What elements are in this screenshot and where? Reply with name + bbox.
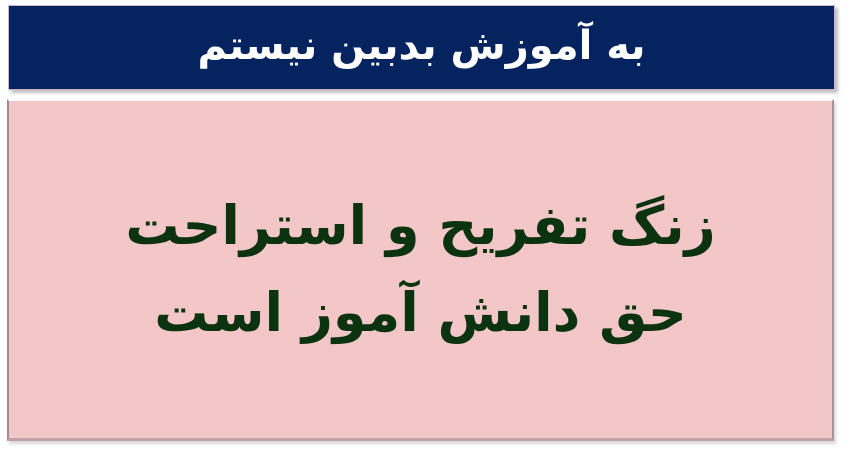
slide-title: به آموزش بدبین نیستم <box>197 25 645 71</box>
title-banner: به آموزش بدبین نیستم <box>8 5 835 90</box>
body-line-1: زنگ تفریح و استراحت <box>125 188 715 265</box>
content-box: زنگ تفریح و استراحت حق دانش آموز است <box>7 99 834 441</box>
body-paragraph: زنگ تفریح و استراحت حق دانش آموز است <box>99 188 741 351</box>
slide-canvas: به آموزش بدبین نیستم زنگ تفریح و استراحت… <box>0 0 856 457</box>
body-line-2: حق دانش آموز است <box>125 275 715 352</box>
